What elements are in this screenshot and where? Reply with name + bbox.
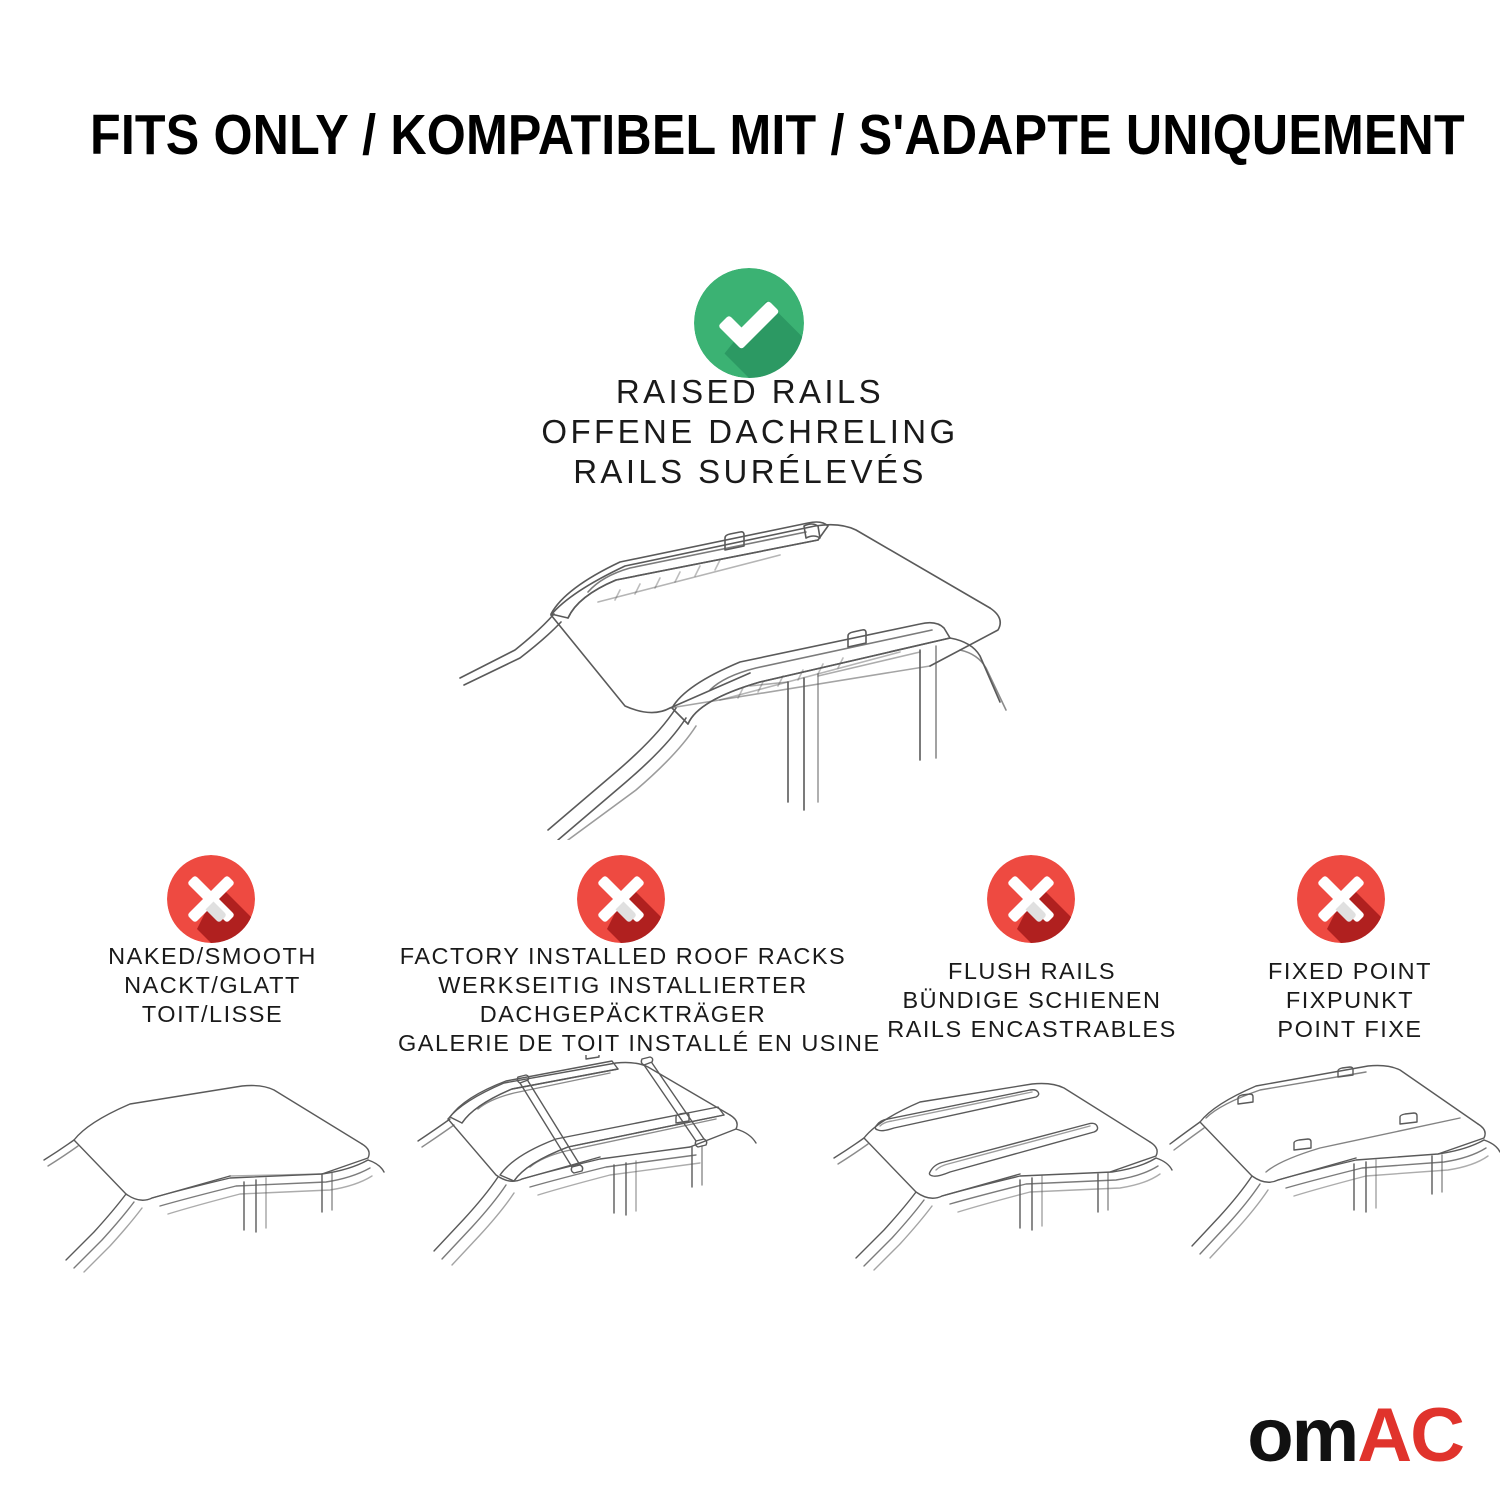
car-roof-naked-smooth-illustration xyxy=(30,1060,390,1280)
label-line-fr: GALERIE DE TOIT INSTALLÉ EN USINE xyxy=(398,1029,848,1058)
cross-circle-icon xyxy=(577,855,665,943)
incompatible-label-factory-racks: FACTORY INSTALLED ROOF RACKS WERKSEITIG … xyxy=(398,942,848,1058)
compatible-label-line-en: RAISED RAILS xyxy=(0,372,1500,412)
label-line-en: FIXED POINT xyxy=(1215,957,1485,986)
car-roof-fixed-point-illustration xyxy=(1160,1060,1500,1280)
label-line-en: NAKED/SMOOTH xyxy=(40,942,385,971)
cross-circle-icon xyxy=(167,855,255,943)
label-line-de: BÜNDIGE SCHIENEN xyxy=(852,986,1212,1015)
label-line-fr: RAILS ENCASTRABLES xyxy=(852,1015,1212,1044)
compatible-label-line-fr: RAILS SURÉLEVÉS xyxy=(0,452,1500,492)
page-title: FITS ONLY / KOMPATIBEL MIT / S'ADAPTE UN… xyxy=(90,104,1410,166)
label-line-de: NACKT/GLATT xyxy=(40,971,385,1000)
label-line-en: FACTORY INSTALLED ROOF RACKS xyxy=(398,942,848,971)
label-line-de: FIXPUNKT xyxy=(1215,986,1485,1015)
label-line-de-2: DACHGEPÄCKTRÄGER xyxy=(398,1000,848,1029)
car-roof-raised-rails-illustration xyxy=(420,510,1080,840)
omac-logo: om AC xyxy=(1218,1400,1463,1472)
incompatible-label-naked-smooth: NAKED/SMOOTH NACKT/GLATT TOIT/LISSE xyxy=(40,942,385,1029)
incompatible-label-flush-rails: FLUSH RAILS BÜNDIGE SCHIENEN RAILS ENCAS… xyxy=(852,957,1212,1044)
label-line-en: FLUSH RAILS xyxy=(852,957,1212,986)
logo-text-red: AC xyxy=(1357,1400,1463,1472)
car-roof-factory-racks-illustration xyxy=(400,1055,770,1280)
cross-circle-icon xyxy=(1297,855,1385,943)
incompatible-label-fixed-point: FIXED POINT FIXPUNKT POINT FIXE xyxy=(1215,957,1485,1044)
car-roof-flush-rails-illustration xyxy=(820,1060,1180,1280)
label-line-fr: POINT FIXE xyxy=(1215,1015,1485,1044)
label-line-fr: TOIT/LISSE xyxy=(40,1000,385,1029)
check-circle-icon xyxy=(694,268,804,378)
cross-circle-icon xyxy=(987,855,1075,943)
label-line-de-1: WERKSEITIG INSTALLIERTER xyxy=(398,971,848,1000)
logo-text-dark: om xyxy=(1247,1400,1357,1472)
compatible-label-line-de: OFFENE DACHRELING xyxy=(0,412,1500,452)
compatible-label: RAISED RAILS OFFENE DACHRELING RAILS SUR… xyxy=(0,372,1500,492)
